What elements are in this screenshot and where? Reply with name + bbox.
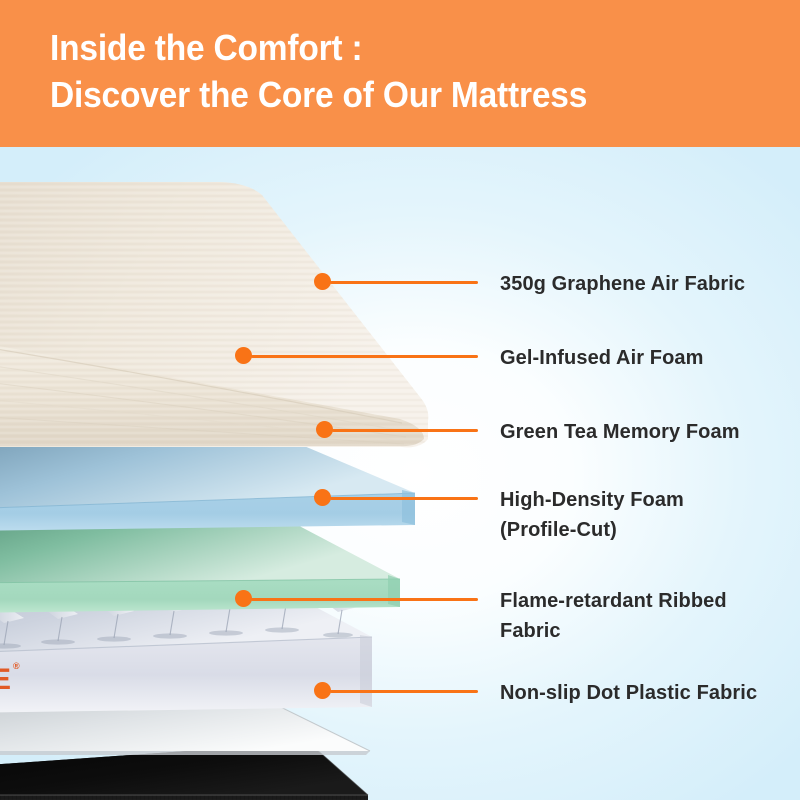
callout-dot-icon [235,590,252,607]
layer-label-graphene-air-fabric: 350g Graphene Air Fabric [500,269,745,299]
leader-line [251,598,478,601]
callout-dot-icon [314,273,331,290]
layer-label-non-slip-dot-plastic-fabric: Non-slip Dot Plastic Fabric [500,678,757,708]
page-title: Inside the Comfort : Discover the Core o… [50,24,587,118]
layer-label-flame-retardant-ribbed-fabric: Flame-retardant Ribbed Fabric [500,586,727,646]
callout-dot-icon [314,489,331,506]
layer-label-high-density-foam: High-Density Foam (Profile-Cut) [500,485,684,545]
layer-shape-graphene-air-fabric [0,182,428,447]
callout-dot-icon [314,682,331,699]
layer-label-gel-infused-air-foam: Gel-Infused Air Foam [500,343,704,373]
leader-line [330,497,478,500]
infographic-canvas: Inside the Comfort : Discover the Core o… [0,0,800,800]
header-banner: Inside the Comfort : Discover the Core o… [0,0,800,147]
layer-label-green-tea-memory-foam: Green Tea Memory Foam [500,417,740,447]
callout-dot-icon [235,347,252,364]
callout-dot-icon [316,421,333,438]
brand-logo-letter: E [0,663,12,697]
leader-line [332,429,478,432]
leader-line [330,690,478,693]
brand-registered-icon: ® [13,661,20,671]
leader-line [330,281,478,284]
leader-line [251,355,478,358]
